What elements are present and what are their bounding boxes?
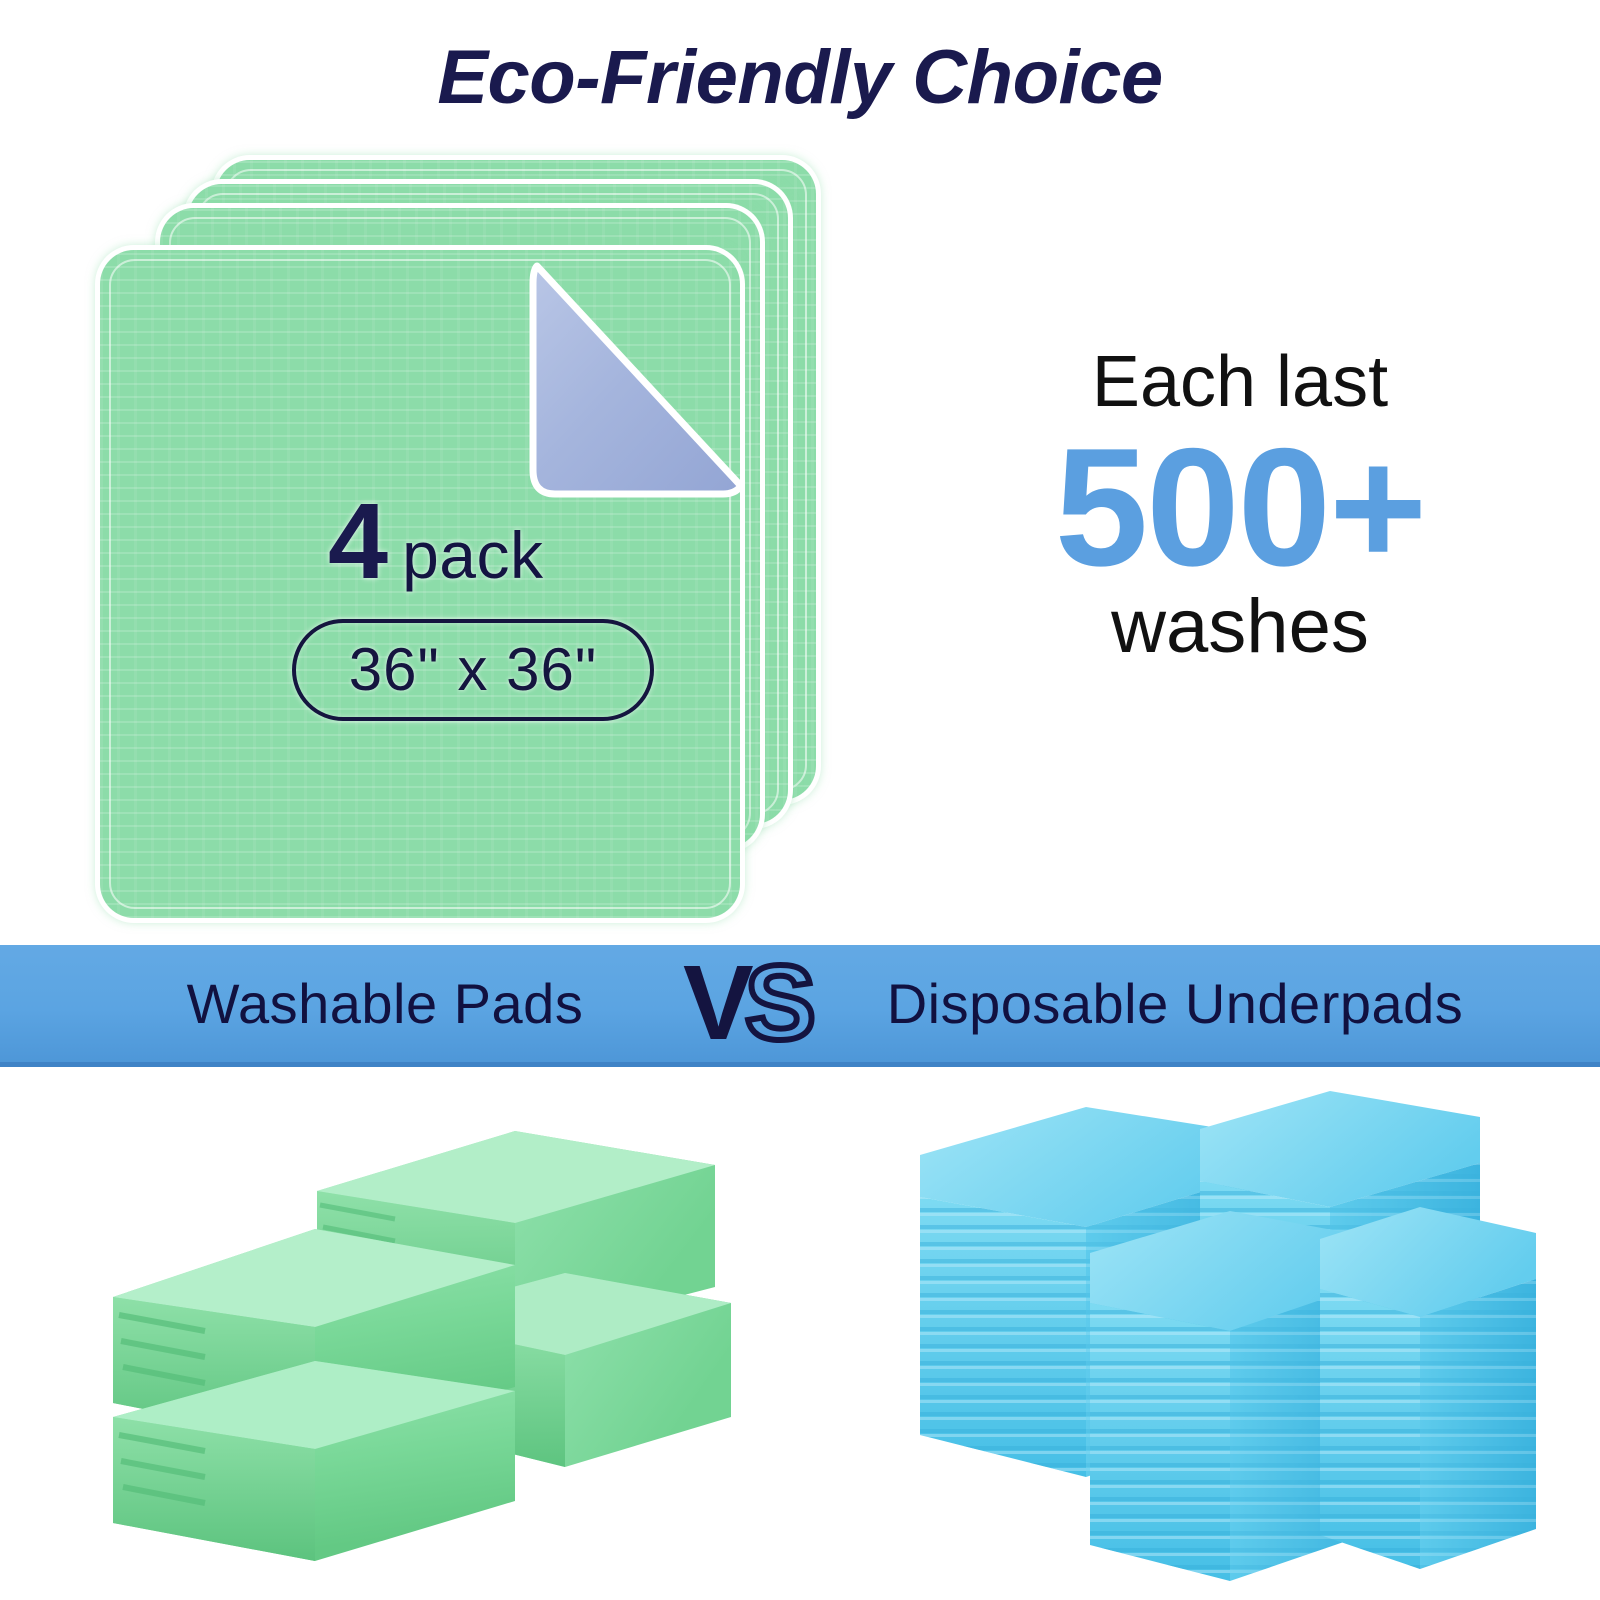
washes-pre-text: Each last — [1000, 345, 1480, 421]
svg-text:V: V — [683, 951, 754, 1055]
versus-banner: Washable Pads V S Disposable Underpads — [0, 945, 1600, 1067]
washable-pad-stack: 4 pack 36" x 36" — [80, 160, 840, 900]
pack-count: 4 — [328, 490, 388, 593]
banner-label-disposable: Disposable Underpads — [855, 971, 1495, 1036]
folded-washable-pads — [95, 1087, 775, 1587]
pad-label-group: 4 pack 36" x 36" — [150, 490, 690, 721]
underpad-stack-front-right — [1320, 1207, 1536, 1569]
washes-claim-block: Each last 500+ washes — [1000, 345, 1480, 667]
title-bar: Eco-Friendly Choice — [0, 22, 1600, 132]
vs-icon: V S — [665, 943, 855, 1065]
banner-label-washable: Washable Pads — [105, 971, 665, 1036]
comparison-products — [0, 1067, 1600, 1600]
hero-section: 4 pack 36" x 36" Each last 500+ washes — [0, 130, 1600, 945]
page-title: Eco-Friendly Choice — [437, 34, 1162, 121]
size-label: 36" x 36" — [349, 635, 597, 704]
pack-word: pack — [402, 522, 543, 588]
size-pill: 36" x 36" — [292, 619, 654, 721]
stacked-disposable-underpads — [900, 1077, 1540, 1587]
svg-text:S: S — [745, 951, 816, 1055]
pack-line: 4 pack — [150, 490, 690, 593]
washes-count-text: 500+ — [1000, 425, 1480, 590]
